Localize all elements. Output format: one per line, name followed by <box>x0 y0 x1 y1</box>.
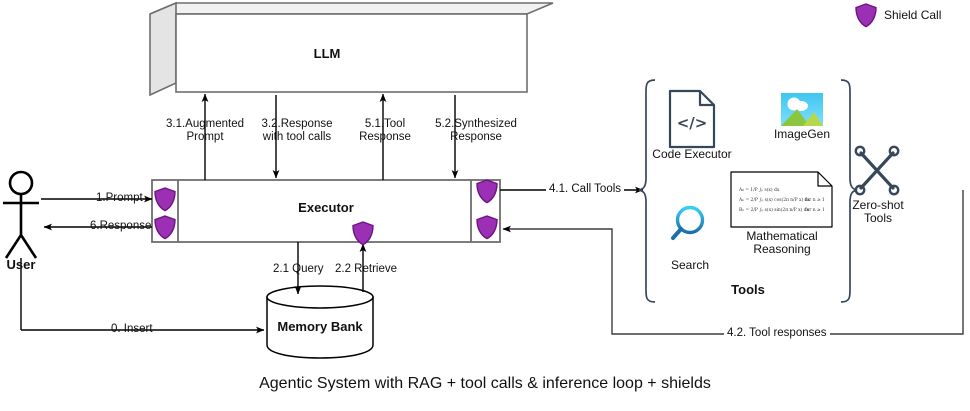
svg-text:for n ≥ 1: for n ≥ 1 <box>805 198 825 203</box>
flow-label-5-2: 5.2.Synthesized Response <box>420 118 532 144</box>
svg-text:for n ≥ 1: for n ≥ 1 <box>805 208 825 213</box>
tool-label-code-executor: Code Executor <box>652 148 731 161</box>
flow-label-5-1: 5.1.Tool Response <box>342 118 428 144</box>
image-icon <box>781 93 823 126</box>
magnifier-icon <box>673 208 703 239</box>
svg-text:</>: </> <box>677 114 708 132</box>
flow-label-4-1-call-tools: 4.1. Call Tools <box>546 183 624 196</box>
diagram-canvas: </> A₀ = 1/P ∫ₚ s(x) dx Aₙ = 2/P ∫ₚ s(x)… <box>0 0 970 411</box>
executor-label: Executor <box>298 201 354 214</box>
diagram-graphics: </> A₀ = 1/P ∫ₚ s(x) dx Aₙ = 2/P ∫ₚ s(x)… <box>0 0 970 411</box>
code-document-icon: </> <box>670 91 714 147</box>
svg-text:Bₙ = 2/P ∫ₚ s(x) sin(2π n/P x): Bₙ = 2/P ∫ₚ s(x) sin(2π n/P x) dx <box>739 207 810 213</box>
diagram-caption: Agentic System with RAG + tool calls & i… <box>259 375 711 393</box>
tool-label-zero-shot-tools: Zero-shotTools <box>842 199 914 225</box>
legend-shield-call-label: Shield Call <box>884 9 941 22</box>
svg-text:A₀ = 1/P ∫ₚ s(x) dx: A₀ = 1/P ∫ₚ s(x) dx <box>738 187 780 193</box>
flow-label-2-1-query: 2.1 Query <box>273 263 324 276</box>
llm-box <box>150 3 553 95</box>
user-stick-figure <box>3 172 39 258</box>
flow-label-4-2-tool-responses: 4.2. Tool responses <box>724 327 830 340</box>
memory-bank-label: Memory Bank <box>277 320 362 333</box>
tool-label-search: Search <box>671 259 709 272</box>
tools-group-label: Tools <box>731 283 765 296</box>
math-document-icon: A₀ = 1/P ∫ₚ s(x) dx Aₙ = 2/P ∫ₚ s(x) cos… <box>731 172 832 227</box>
shield-legend-icon <box>856 4 876 27</box>
crossed-wrenches-icon <box>856 147 898 194</box>
flow-label-3-2: 3.2.Response with tool calls <box>238 118 356 144</box>
tool-label-mathematical-reasoning: MathematicalReasoning <box>727 230 837 256</box>
flow-label-2-2-retrieve: 2.2 Retrieve <box>335 263 397 276</box>
svg-text:Aₙ = 2/P ∫ₚ s(x) cos(2π n/P x): Aₙ = 2/P ∫ₚ s(x) cos(2π n/P x) dx <box>738 197 810 203</box>
llm-label: LLM <box>314 47 341 60</box>
flow-label-1-prompt: 1.Prompt <box>96 192 143 205</box>
flow-label-6-response: 6.Response <box>90 220 151 233</box>
flow-label-0-insert: 0. Insert <box>111 323 153 336</box>
tool-label-imagegen: ImageGen <box>774 128 830 141</box>
user-label: User <box>7 258 36 271</box>
